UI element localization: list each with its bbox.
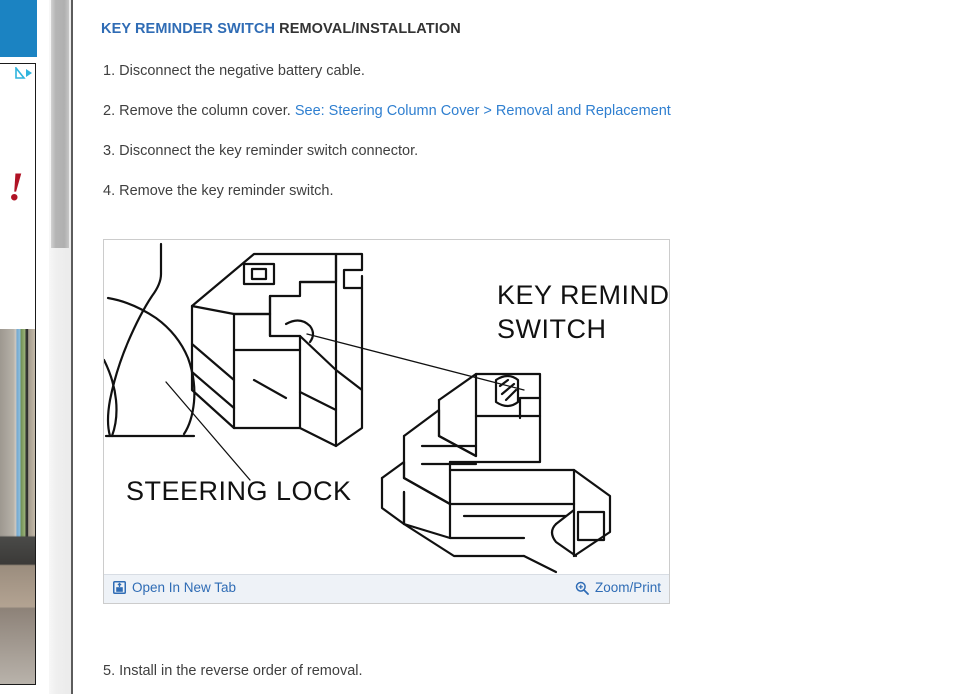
ad-exclamation: ! (8, 167, 24, 207)
step-5-text: 5. Install in the reverse order of remov… (103, 663, 363, 679)
steering-column-cover-link[interactable]: See: Steering Column Cover > Removal and… (295, 103, 671, 119)
step-2: 2. Remove the column cover. See: Steerin… (103, 103, 671, 119)
svg-text:STEERING LOCK: STEERING LOCK (126, 476, 352, 506)
magnifier-plus-icon (575, 581, 589, 595)
step-3: 3. Disconnect the key reminder switch co… (103, 143, 418, 159)
step-4: 4. Remove the key reminder switch. (103, 183, 333, 199)
figure-container: STEERING LOCK KEY REMINDER SWITCH Open I… (103, 239, 670, 604)
ad-banner-block[interactable] (0, 0, 37, 57)
zoom-print-label: Zoom/Print (595, 580, 661, 595)
open-in-new-tab-label: Open In New Tab (132, 580, 236, 595)
document-content: KEY REMINDER SWITCH REMOVAL/INSTALLATION… (73, 0, 976, 694)
vertical-scrollbar[interactable] (49, 0, 71, 694)
page-title-plain: REMOVAL/INSTALLATION (275, 21, 461, 37)
figure-image[interactable]: STEERING LOCK KEY REMINDER SWITCH (104, 240, 669, 574)
step-5: 5. Install in the reverse order of remov… (103, 663, 363, 679)
step-4-text: 4. Remove the key reminder switch. (103, 183, 333, 199)
svg-text:SWITCH: SWITCH (497, 314, 606, 344)
page-title-highlight: KEY REMINDER SWITCH (101, 21, 275, 37)
svg-text:KEY REMINDER: KEY REMINDER (497, 280, 669, 310)
open-in-new-tab-icon (113, 581, 126, 594)
open-in-new-tab-button[interactable]: Open In New Tab (113, 580, 236, 595)
scrollbar-thumb[interactable] (51, 0, 69, 248)
step-1: 1. Disconnect the negative battery cable… (103, 63, 365, 79)
ad-headline: E T (0, 106, 36, 166)
ad-photo (0, 329, 35, 685)
ad-headline-line-1: E (0, 106, 36, 136)
zoom-print-button[interactable]: Zoom/Print (575, 580, 661, 595)
step-3-text: 3. Disconnect the key reminder switch co… (103, 143, 418, 159)
page-title: KEY REMINDER SWITCH REMOVAL/INSTALLATION (101, 21, 461, 37)
adchoices-triangle-icon[interactable] (15, 66, 33, 78)
ad-creative[interactable]: E T ! (0, 63, 36, 685)
step-1-text: 1. Disconnect the negative battery cable… (103, 63, 365, 79)
figure-toolbar: Open In New Tab Zoom/Print (104, 574, 669, 603)
step-2-text: 2. Remove the column cover. (103, 103, 295, 119)
advertisement-rail: E T ! (0, 0, 37, 694)
ad-headline-line-2: T (0, 136, 36, 166)
